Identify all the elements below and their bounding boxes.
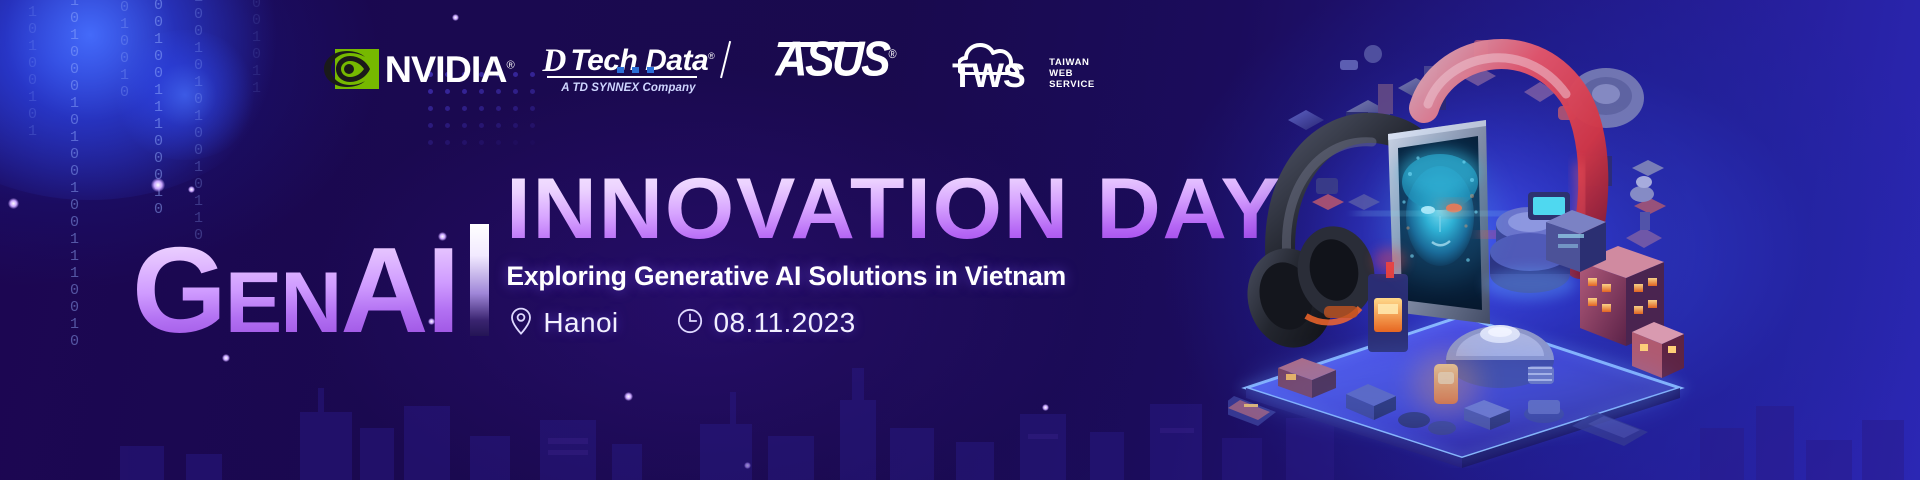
sparkle bbox=[624, 392, 633, 401]
logo-tws: TWS TAIWAN WEB SERVICE bbox=[952, 38, 1095, 100]
asus-wordmark: ASUS® bbox=[775, 35, 895, 84]
event-location: Hanoi bbox=[510, 307, 618, 340]
ai-tech-illustration bbox=[1228, 16, 1696, 468]
tech-data-tagline: A TD SYNNEX Company bbox=[543, 82, 715, 94]
event-banner: 0010010 1101000101001001110010 100100111… bbox=[0, 0, 1920, 480]
glow-top-left bbox=[0, 0, 300, 200]
sparkle bbox=[452, 14, 459, 21]
sparkle bbox=[8, 198, 19, 209]
nvidia-wordmark: NVIDIA® bbox=[385, 51, 514, 88]
genai-brand-title: GENAI bbox=[132, 239, 458, 341]
logo-tech-data: D Tech Data® A TD SYNNEX Company bbox=[513, 38, 715, 100]
logo-nvidia: NVIDIA® bbox=[335, 38, 513, 100]
binary-column: 1101000101001001110010 bbox=[66, 0, 83, 350]
binary-column: 1001011 bbox=[248, 0, 265, 97]
binary-column: 0110100101 bbox=[24, 0, 41, 140]
headline-block: GENAI INNOVATION DAY Exploring Generativ… bbox=[132, 172, 1252, 342]
page-subtitle: Exploring Generative AI Solutions in Vie… bbox=[506, 261, 1252, 292]
headline-divider bbox=[470, 224, 489, 336]
tech-data-slash-decor bbox=[720, 40, 731, 77]
sparkle bbox=[1042, 404, 1049, 411]
tech-data-monogram: D bbox=[543, 45, 565, 78]
tws-wordmark: TWS bbox=[952, 59, 1025, 93]
partner-logo-row: NVIDIA® D Tech Data® A TD SYNNEX Company… bbox=[335, 38, 1095, 100]
tws-tagline: TAIWAN WEB SERVICE bbox=[1049, 57, 1095, 90]
event-location-label: Hanoi bbox=[543, 307, 618, 339]
binary-column: 0010010 bbox=[116, 0, 133, 101]
clock-icon bbox=[677, 308, 703, 339]
tech-data-underline-decor bbox=[547, 76, 697, 78]
nvidia-eye-icon bbox=[335, 49, 379, 89]
event-meta-row: Hanoi 08.11.2023 bbox=[506, 307, 1252, 340]
event-date: 08.11.2023 bbox=[677, 307, 856, 339]
event-date-label: 08.11.2023 bbox=[714, 307, 856, 339]
page-title: INNOVATION DAY bbox=[506, 172, 1282, 248]
tech-data-dots-decor bbox=[617, 67, 654, 73]
sparkle bbox=[744, 462, 751, 469]
glow-left-mid bbox=[110, 30, 260, 160]
logo-asus: ASUS® bbox=[776, 38, 894, 100]
location-pin-icon bbox=[510, 307, 532, 340]
